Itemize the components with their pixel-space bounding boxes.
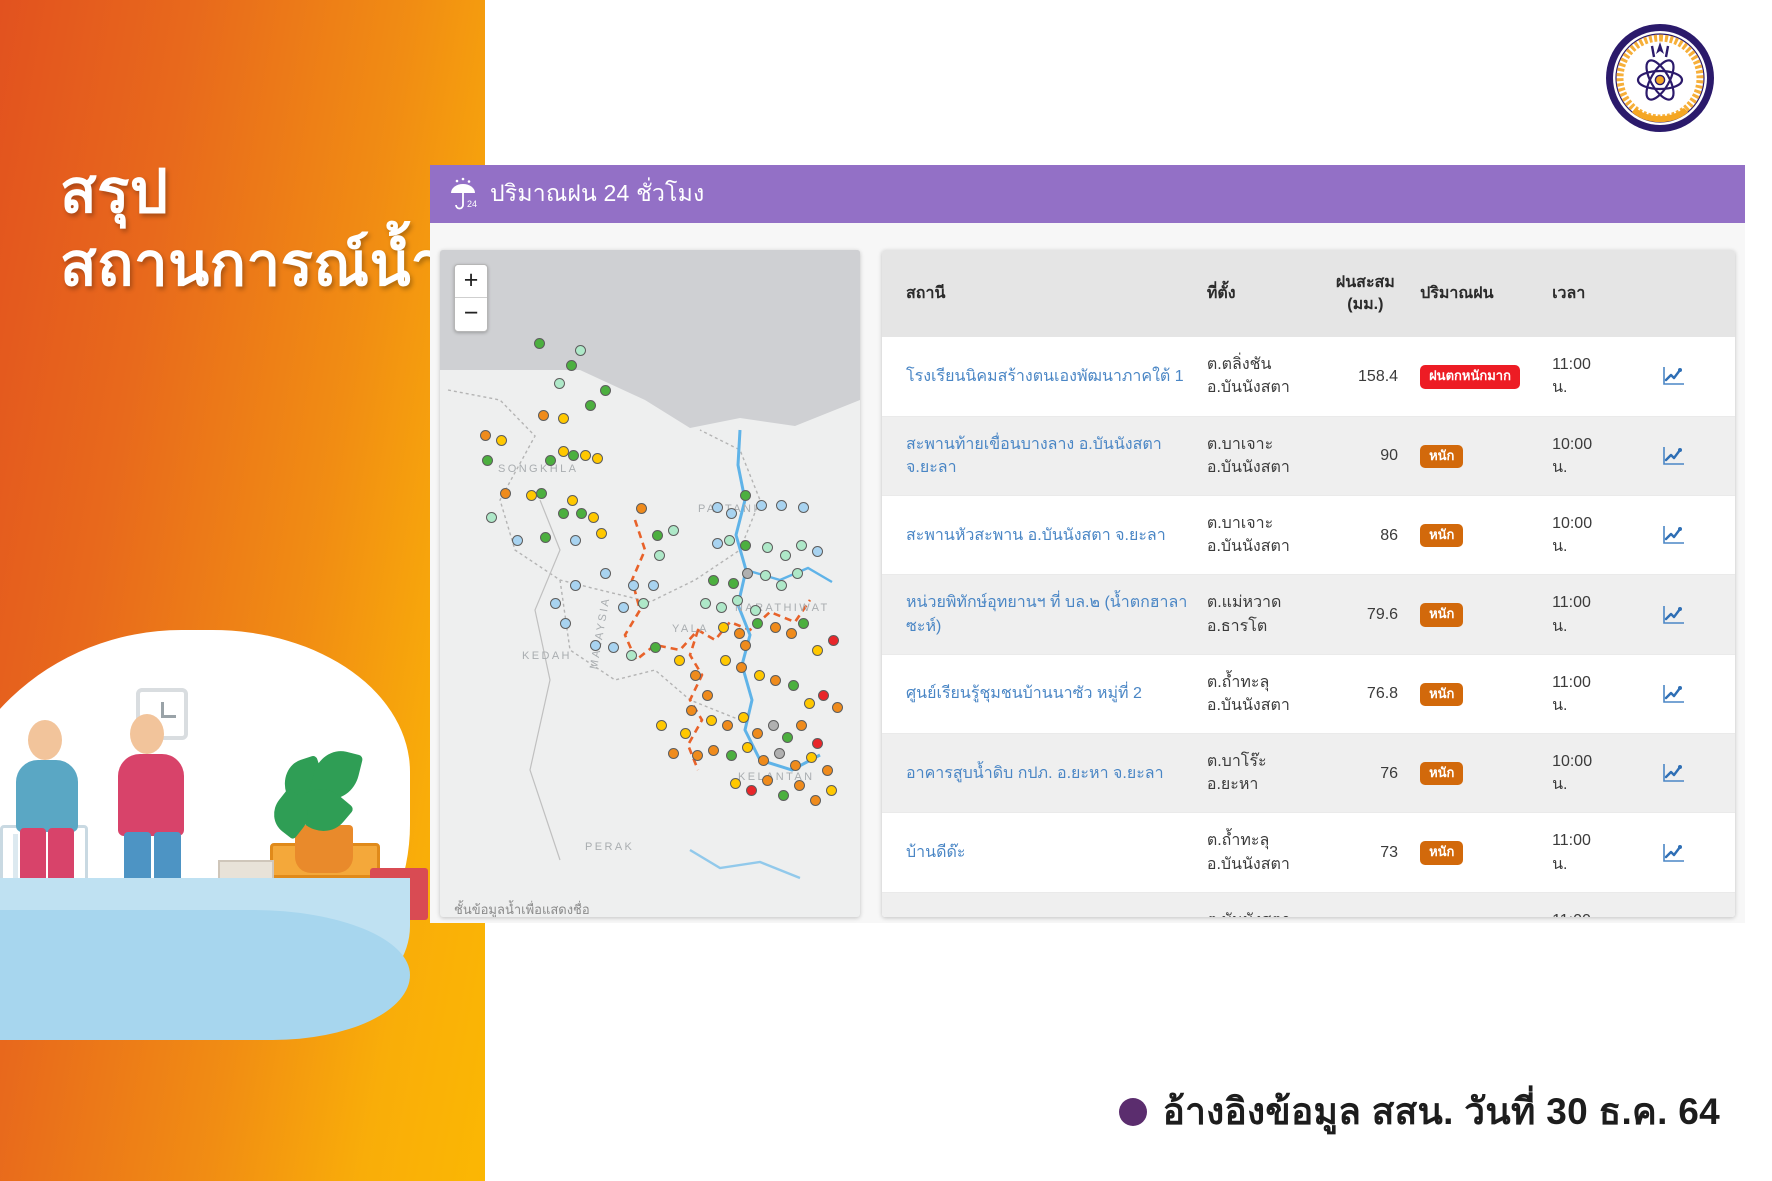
cell-graph[interactable] xyxy=(1654,892,1735,917)
cell-time: 11:00น. xyxy=(1544,813,1654,892)
map-station-marker[interactable] xyxy=(692,750,703,761)
map-station-marker[interactable] xyxy=(756,500,767,511)
line-chart-icon xyxy=(1662,762,1686,784)
bullet-dot-icon xyxy=(1119,1098,1147,1126)
map-station-marker[interactable] xyxy=(712,538,723,549)
time-line1: 10:00 xyxy=(1552,753,1592,770)
map-station-marker[interactable] xyxy=(486,512,497,523)
time-line1: 11:00 xyxy=(1552,674,1591,691)
time-line1: 10:00 xyxy=(1552,436,1592,453)
status-badge: หนัก xyxy=(1420,603,1463,626)
map-station-marker[interactable] xyxy=(740,540,751,551)
cell-station[interactable]: สะพานท้ายเขื่อนบางลาง อ.บันนังสตา จ.ยะลา xyxy=(882,416,1199,495)
table-row[interactable]: อาคารสูบน้ำดิบ กปภ. อ.ยะหา จ.ยะลาต.บาโร๊… xyxy=(882,734,1735,813)
cell-rain-level: หนัก xyxy=(1412,892,1544,917)
cell-accumulated: 86 xyxy=(1319,495,1412,574)
cell-rain-level: หนัก xyxy=(1412,734,1544,813)
map-station-marker[interactable] xyxy=(636,503,647,514)
rain-map-card[interactable]: SONGKHLA PATTANI YALA NARATHIWAT KEDAH M… xyxy=(440,250,860,917)
map-region-label: SONGKHLA xyxy=(498,463,578,475)
location-line1: ต.บันนังสตา xyxy=(1207,912,1291,917)
time-line2: น. xyxy=(1552,856,1567,873)
cell-station[interactable]: บันนังสตา xyxy=(882,892,1199,917)
cell-time: 11:00น. xyxy=(1544,654,1654,733)
map-station-marker[interactable] xyxy=(534,338,545,349)
map-station-marker[interactable] xyxy=(588,512,599,523)
col-header-location: ที่ตั้ง xyxy=(1199,250,1319,337)
map-station-marker[interactable] xyxy=(752,728,763,739)
map-station-marker[interactable] xyxy=(538,410,549,421)
cell-accumulated: 158.4 xyxy=(1319,337,1412,416)
umbrella-rain-24h-icon: 24 xyxy=(448,177,478,211)
cell-graph[interactable] xyxy=(1654,337,1735,416)
rain-station-table-card: สถานี ที่ตั้ง ฝนสะสม (มม.) ปริมาณฝน เวลา… xyxy=(882,250,1735,917)
status-badge: ฝนตกหนักมาก xyxy=(1420,365,1520,388)
map-station-marker[interactable] xyxy=(500,488,511,499)
time-line1: 11:00 xyxy=(1552,832,1591,849)
map-station-marker[interactable] xyxy=(638,598,649,609)
cell-location: ต.ถ้ำทะลุอ.บันนังสตา xyxy=(1199,813,1319,892)
line-chart-icon xyxy=(1662,365,1686,387)
map-station-marker[interactable] xyxy=(760,570,771,581)
location-line1: ต.ถ้ำทะลุ xyxy=(1207,832,1269,849)
map-station-marker[interactable] xyxy=(798,502,809,513)
map-station-marker[interactable] xyxy=(750,605,761,616)
map-station-marker[interactable] xyxy=(768,720,779,731)
table-row[interactable]: โรงเรียนนิคมสร้างตนเองพัฒนาภาคใต้ 1ต.ตลิ… xyxy=(882,337,1735,416)
map-station-marker[interactable] xyxy=(738,712,749,723)
map-station-marker[interactable] xyxy=(778,790,789,801)
map-station-marker[interactable] xyxy=(818,690,829,701)
cell-time: 11:00น. xyxy=(1544,892,1654,917)
col-header-station: สถานี xyxy=(882,250,1199,337)
time-line2: น. xyxy=(1552,538,1567,555)
map-station-marker[interactable] xyxy=(590,640,601,651)
cell-station[interactable]: โรงเรียนนิคมสร้างตนเองพัฒนาภาคใต้ 1 xyxy=(882,337,1199,416)
panel-header: 24 ปริมาณฝน 24 ชั่วโมง xyxy=(430,165,1745,223)
cell-location: ต.บาโร๊ะอ.ยะหา xyxy=(1199,734,1319,813)
cell-station[interactable]: อาคารสูบน้ำดิบ กปภ. อ.ยะหา จ.ยะลา xyxy=(882,734,1199,813)
table-body: โรงเรียนนิคมสร้างตนเองพัฒนาภาคใต้ 1ต.ตลิ… xyxy=(882,337,1735,917)
map-station-marker[interactable] xyxy=(798,618,809,629)
map-station-marker[interactable] xyxy=(600,385,611,396)
map-station-marker[interactable] xyxy=(804,698,815,709)
station-link[interactable]: อาคารสูบน้ำดิบ กปภ. อ.ยะหา จ.ยะลา xyxy=(906,765,1164,782)
map-station-marker[interactable] xyxy=(794,780,805,791)
map-station-marker[interactable] xyxy=(822,765,833,776)
page-title: สรุป สถานการณ์น้ำ xyxy=(60,155,480,301)
map-station-marker[interactable] xyxy=(742,742,753,753)
table-row[interactable]: ศูนย์เรียนรู้ชุมชนบ้านนาซัว หมู่ที่ 2ต.ถ… xyxy=(882,654,1735,733)
map-station-marker[interactable] xyxy=(740,490,751,501)
ministry-seal-logo xyxy=(1604,22,1716,134)
cell-rain-level: หนัก xyxy=(1412,813,1544,892)
map-station-marker[interactable] xyxy=(482,455,493,466)
map-station-marker[interactable] xyxy=(580,450,591,461)
map-station-marker[interactable] xyxy=(686,705,697,716)
map-station-marker[interactable] xyxy=(700,598,711,609)
time-line2: น. xyxy=(1552,776,1567,793)
table-header-row: สถานี ที่ตั้ง ฝนสะสม (มม.) ปริมาณฝน เวลา xyxy=(882,250,1735,337)
line-chart-icon xyxy=(1662,445,1686,467)
map-station-marker[interactable] xyxy=(762,542,773,553)
cell-graph[interactable] xyxy=(1654,416,1735,495)
zoom-out-button[interactable]: − xyxy=(455,298,487,331)
map-station-marker[interactable] xyxy=(810,795,821,806)
map-zoom-control[interactable]: + − xyxy=(454,264,488,332)
table-row[interactable]: สะพานท้ายเขื่อนบางลาง อ.บันนังสตา จ.ยะลา… xyxy=(882,416,1735,495)
cell-graph[interactable] xyxy=(1654,734,1735,813)
cell-location: ต.แม่หวาดอ.ธารโต xyxy=(1199,575,1319,654)
map-station-marker[interactable] xyxy=(566,360,577,371)
map-station-marker[interactable] xyxy=(812,645,823,656)
map-station-marker[interactable] xyxy=(722,720,733,731)
line-chart-icon xyxy=(1662,683,1686,705)
map-station-marker[interactable] xyxy=(826,785,837,796)
cell-station[interactable]: สะพานหัวสะพาน อ.บันนังสตา จ.ยะลา xyxy=(882,495,1199,574)
headline-line-2: สถานการณ์น้ำ xyxy=(60,228,480,301)
time-line1: 10:00 xyxy=(1552,515,1592,532)
station-link[interactable]: สะพานท้ายเขื่อนบางลาง อ.บันนังสตา จ.ยะลา xyxy=(906,436,1162,476)
map-station-marker[interactable] xyxy=(786,628,797,639)
map-station-marker[interactable] xyxy=(736,662,747,673)
map-station-marker[interactable] xyxy=(782,732,793,743)
location-line1: ต.บาโร๊ะ xyxy=(1207,753,1267,770)
map-station-marker[interactable] xyxy=(554,378,565,389)
cell-rain-level: หนัก xyxy=(1412,495,1544,574)
time-line2: น. xyxy=(1552,379,1567,396)
water-floor-front xyxy=(0,910,410,1040)
map-station-marker[interactable] xyxy=(770,675,781,686)
map-station-marker[interactable] xyxy=(776,500,787,511)
map-station-marker[interactable] xyxy=(576,508,587,519)
location-line1: ต.ถ้ำทะลุ xyxy=(1207,674,1269,691)
map-station-marker[interactable] xyxy=(680,728,691,739)
time-line1: 11:00 xyxy=(1552,356,1591,373)
cell-rain-level: หนัก xyxy=(1412,416,1544,495)
cell-accumulated: 72 xyxy=(1319,892,1412,917)
map-station-marker[interactable] xyxy=(708,575,719,586)
map-station-marker[interactable] xyxy=(690,670,701,681)
cell-graph[interactable] xyxy=(1654,654,1735,733)
status-badge: หนัก xyxy=(1420,445,1463,468)
station-link[interactable]: ศูนย์เรียนรู้ชุมชนบ้านนาซัว หมู่ที่ 2 xyxy=(906,685,1142,702)
line-chart-icon xyxy=(1662,842,1686,864)
station-link[interactable]: บ้านดีด๊ะ xyxy=(906,844,965,861)
map-station-marker[interactable] xyxy=(536,488,547,499)
table-row[interactable]: บันนังสตาต.บันนังสตาอ.บันนังสตา72หนัก11:… xyxy=(882,892,1735,917)
map-station-marker[interactable] xyxy=(796,540,807,551)
panel-header-title: ปริมาณฝน 24 ชั่วโมง xyxy=(490,176,704,212)
map-region-label: PERAK xyxy=(585,841,634,853)
cell-location: ต.บาเจาะอ.บันนังสตา xyxy=(1199,495,1319,574)
map-attribution: ชั้นข้อมูลน้ำเพื่อแสดงชื่อ xyxy=(454,899,590,917)
cell-location: ต.ถ้ำทะลุอ.บันนังสตา xyxy=(1199,654,1319,733)
cell-time: 10:00น. xyxy=(1544,734,1654,813)
cell-time: 11:00น. xyxy=(1544,337,1654,416)
map-station-marker[interactable] xyxy=(654,550,665,561)
cell-time: 10:00น. xyxy=(1544,495,1654,574)
time-line1: 11:00 xyxy=(1552,594,1591,611)
map-station-marker[interactable] xyxy=(596,528,607,539)
map-station-marker[interactable] xyxy=(712,502,723,513)
map-station-marker[interactable] xyxy=(648,580,659,591)
col-header-time: เวลา xyxy=(1544,250,1654,337)
table-row[interactable]: บ้านดีด๊ะต.ถ้ำทะลุอ.บันนังสตา73หนัก11:00… xyxy=(882,813,1735,892)
map-station-marker[interactable] xyxy=(828,635,839,646)
map-station-marker[interactable] xyxy=(774,748,785,759)
map-station-marker[interactable] xyxy=(832,702,843,713)
map-station-marker[interactable] xyxy=(558,508,569,519)
location-line2: อ.บันนังสตา xyxy=(1207,697,1290,714)
location-line2: อ.บันนังสตา xyxy=(1207,379,1290,396)
cell-rain-level: หนัก xyxy=(1412,575,1544,654)
rain-station-table: สถานี ที่ตั้ง ฝนสะสม (มม.) ปริมาณฝน เวลา… xyxy=(882,250,1735,917)
map-station-marker[interactable] xyxy=(608,642,619,653)
map-station-marker[interactable] xyxy=(706,715,717,726)
map-station-marker[interactable] xyxy=(716,602,727,613)
map-station-marker[interactable] xyxy=(650,642,661,653)
map-station-marker[interactable] xyxy=(592,453,603,464)
cell-time: 10:00น. xyxy=(1544,416,1654,495)
location-line1: ต.บาเจาะ xyxy=(1207,436,1273,453)
station-link[interactable]: หน่วยพิทักษ์อุทยานฯ ที่ บล.๒ (น้ำตกฮาลาซ… xyxy=(906,594,1187,634)
flood-illustration xyxy=(0,610,485,1030)
map-station-marker[interactable] xyxy=(626,650,637,661)
map-station-marker[interactable] xyxy=(726,508,737,519)
map-station-marker[interactable] xyxy=(720,655,731,666)
col-header-accumulated: ฝนสะสม (มม.) xyxy=(1319,250,1412,337)
map-station-marker[interactable] xyxy=(585,400,596,411)
cell-accumulated: 76.8 xyxy=(1319,654,1412,733)
zoom-in-button[interactable]: + xyxy=(455,265,487,298)
cell-station[interactable]: หน่วยพิทักษ์อุทยานฯ ที่ บล.๒ (น้ำตกฮาลาซ… xyxy=(882,575,1199,654)
col-header-accumulated-line2: (มม.) xyxy=(1347,296,1383,313)
time-line2: น. xyxy=(1552,697,1567,714)
map-station-marker[interactable] xyxy=(724,535,735,546)
time-line2: น. xyxy=(1552,618,1567,635)
headline-line-1: สรุป xyxy=(60,158,168,225)
col-header-rain-level: ปริมาณฝน xyxy=(1412,250,1544,337)
time-line2: น. xyxy=(1552,459,1567,476)
map-station-marker[interactable] xyxy=(618,602,629,613)
cell-location: ต.ตลิ่งชันอ.บันนังสตา xyxy=(1199,337,1319,416)
cell-graph[interactable] xyxy=(1654,495,1735,574)
col-header-accumulated-line1: ฝนสะสม xyxy=(1336,274,1395,291)
slide-root: สรุป สถานการณ์น้ำ xyxy=(0,0,1772,1181)
status-badge: หนัก xyxy=(1420,841,1463,864)
status-badge: หนัก xyxy=(1420,683,1463,706)
map-station-marker[interactable] xyxy=(740,640,751,651)
cell-location: ต.บาเจาะอ.บันนังสตา xyxy=(1199,416,1319,495)
location-line1: ต.ตลิ่งชัน xyxy=(1207,356,1272,373)
map-station-marker[interactable] xyxy=(545,455,556,466)
map-surface[interactable]: SONGKHLA PATTANI YALA NARATHIWAT KEDAH M… xyxy=(440,250,860,917)
cell-station[interactable]: ศูนย์เรียนรู้ชุมชนบ้านนาซัว หมู่ที่ 2 xyxy=(882,654,1199,733)
map-station-marker[interactable] xyxy=(726,750,737,761)
location-line2: อ.ยะหา xyxy=(1207,776,1259,793)
map-station-marker[interactable] xyxy=(754,670,765,681)
map-station-marker[interactable] xyxy=(656,720,667,731)
map-station-marker[interactable] xyxy=(540,532,551,543)
cell-accumulated: 73 xyxy=(1319,813,1412,892)
line-chart-icon xyxy=(1662,524,1686,546)
plant-pot-icon xyxy=(295,825,353,873)
map-station-marker[interactable] xyxy=(734,628,745,639)
map-station-marker[interactable] xyxy=(567,495,578,506)
location-line2: อ.บันนังสตา xyxy=(1207,459,1290,476)
dashboard-content: SONGKHLA PATTANI YALA NARATHIWAT KEDAH M… xyxy=(430,223,1745,923)
cell-rain-level: ฝนตกหนักมาก xyxy=(1412,337,1544,416)
table-head: สถานี ที่ตั้ง ฝนสะสม (มม.) ปริมาณฝน เวลา xyxy=(882,250,1735,337)
table-row[interactable]: หน่วยพิทักษ์อุทยานฯ ที่ บล.๒ (น้ำตกฮาลาซ… xyxy=(882,575,1735,654)
map-station-marker[interactable] xyxy=(512,535,523,546)
map-station-marker[interactable] xyxy=(742,568,753,579)
status-badge: หนัก xyxy=(1420,524,1463,547)
map-station-marker[interactable] xyxy=(668,748,679,759)
line-chart-icon xyxy=(1662,604,1686,626)
map-station-marker[interactable] xyxy=(776,580,787,591)
table-row[interactable]: สะพานหัวสะพาน อ.บันนังสตา จ.ยะลาต.บาเจาะ… xyxy=(882,495,1735,574)
map-station-marker[interactable] xyxy=(628,580,639,591)
source-footer-text: อ้างอิงข้อมูล สสน. วันที่ 30 ธ.ค. 64 xyxy=(1163,1082,1720,1141)
cell-rain-level: หนัก xyxy=(1412,654,1544,733)
cell-station[interactable]: บ้านดีด๊ะ xyxy=(882,813,1199,892)
map-station-marker[interactable] xyxy=(730,778,741,789)
map-station-marker[interactable] xyxy=(796,720,807,731)
map-region-label: NARATHIWAT xyxy=(735,602,830,614)
map-station-marker[interactable] xyxy=(550,598,561,609)
map-region-label: YALA xyxy=(672,623,709,635)
cell-accumulated: 79.6 xyxy=(1319,575,1412,654)
map-station-marker[interactable] xyxy=(790,760,801,771)
svg-text:24: 24 xyxy=(467,199,477,209)
map-station-marker[interactable] xyxy=(496,435,507,446)
map-station-marker[interactable] xyxy=(702,690,713,701)
map-station-marker[interactable] xyxy=(570,535,581,546)
map-station-marker[interactable] xyxy=(812,546,823,557)
map-station-marker[interactable] xyxy=(728,578,739,589)
map-station-marker[interactable] xyxy=(668,525,679,536)
location-line2: อ.บันนังสตา xyxy=(1207,538,1290,555)
cell-location: ต.บันนังสตาอ.บันนังสตา xyxy=(1199,892,1319,917)
map-region-label: KEDAH xyxy=(522,650,572,662)
cell-accumulated: 76 xyxy=(1319,734,1412,813)
cell-graph[interactable] xyxy=(1654,575,1735,654)
source-footer: อ้างอิงข้อมูล สสน. วันที่ 30 ธ.ค. 64 xyxy=(1119,1082,1720,1141)
map-station-marker[interactable] xyxy=(652,530,663,541)
map-station-marker[interactable] xyxy=(674,655,685,666)
location-line2: อ.บันนังสตา xyxy=(1207,856,1290,873)
map-station-marker[interactable] xyxy=(792,568,803,579)
cell-time: 11:00น. xyxy=(1544,575,1654,654)
map-station-marker[interactable] xyxy=(570,580,581,591)
map-station-marker[interactable] xyxy=(762,775,773,786)
map-station-marker[interactable] xyxy=(732,595,743,606)
cell-accumulated: 90 xyxy=(1319,416,1412,495)
station-link[interactable]: สะพานหัวสะพาน อ.บันนังสตา จ.ยะลา xyxy=(906,527,1166,544)
cell-graph[interactable] xyxy=(1654,813,1735,892)
map-station-marker[interactable] xyxy=(558,413,569,424)
map-station-marker[interactable] xyxy=(600,568,611,579)
map-station-marker[interactable] xyxy=(575,345,586,356)
station-link[interactable]: โรงเรียนนิคมสร้างตนเองพัฒนาภาคใต้ 1 xyxy=(906,368,1184,385)
map-station-marker[interactable] xyxy=(812,738,823,749)
status-badge: หนัก xyxy=(1420,762,1463,785)
location-line1: ต.แม่หวาด xyxy=(1207,594,1282,611)
location-line2: อ.ธารโต xyxy=(1207,618,1267,635)
map-station-marker[interactable] xyxy=(480,430,491,441)
left-title-panel: สรุป สถานการณ์น้ำ xyxy=(0,0,485,1181)
map-station-marker[interactable] xyxy=(708,745,719,756)
col-header-graph xyxy=(1654,250,1735,337)
map-station-marker[interactable] xyxy=(746,785,757,796)
map-station-marker[interactable] xyxy=(788,680,799,691)
map-station-marker[interactable] xyxy=(718,622,729,633)
map-station-marker[interactable] xyxy=(560,618,571,629)
location-line1: ต.บาเจาะ xyxy=(1207,515,1273,532)
map-station-marker[interactable] xyxy=(752,618,763,629)
map-station-marker[interactable] xyxy=(770,622,781,633)
map-station-marker[interactable] xyxy=(758,755,769,766)
map-station-marker[interactable] xyxy=(568,450,579,461)
map-station-marker[interactable] xyxy=(780,550,791,561)
time-line1: 11:00 xyxy=(1552,912,1591,917)
map-station-marker[interactable] xyxy=(806,752,817,763)
